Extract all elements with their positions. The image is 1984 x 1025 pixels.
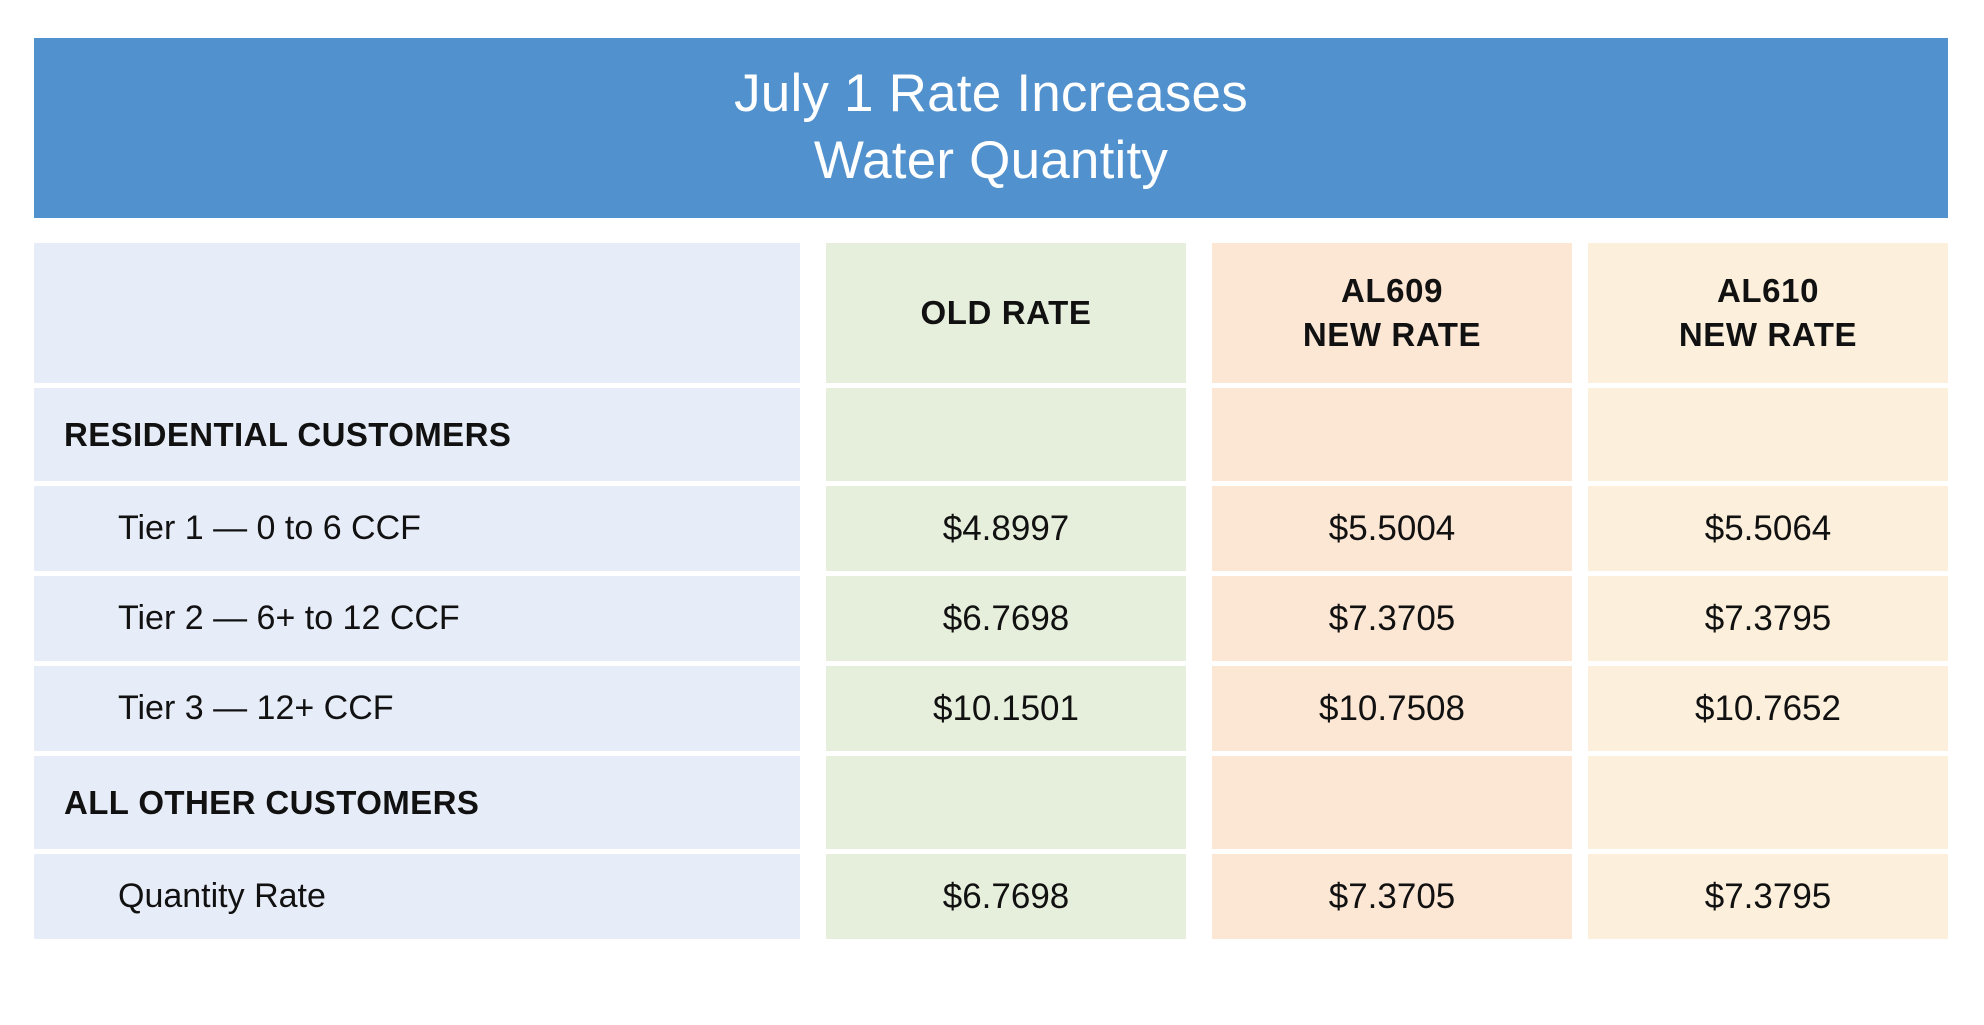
row-value-al610: $10.7652 (1588, 689, 1948, 729)
row-label: Tier 1 — 0 to 6 CCF (34, 509, 421, 548)
header-label-al610-line1: AL610 (1717, 272, 1819, 309)
row-cell-al609: $5.5004 (1212, 486, 1572, 571)
row-cell-al610: $7.3795 (1588, 576, 1948, 661)
row-label: Tier 2 — 6+ to 12 CCF (34, 599, 460, 638)
row-cell-old-rate: $6.7698 (826, 576, 1186, 661)
row-value-al609: $5.5004 (1212, 509, 1572, 549)
table-row: Tier 3 — 12+ CCF (34, 666, 800, 751)
column-gap-2 (1186, 576, 1212, 661)
column-gap-2 (1186, 666, 1212, 751)
row-cell-al609: $7.3705 (1212, 576, 1572, 661)
row-label: Tier 3 — 12+ CCF (34, 689, 394, 728)
column-gap-3 (1572, 243, 1588, 383)
header-label-al610: AL610 NEW RATE (1588, 269, 1948, 356)
table-row: Quantity Rate (34, 854, 800, 939)
group-label: ALL OTHER CUSTOMERS (34, 784, 479, 822)
header-label-old-rate: OLD RATE (826, 291, 1186, 335)
header-cell-al609: AL609 NEW RATE (1212, 243, 1572, 383)
row-cell-al610: $7.3795 (1588, 854, 1948, 939)
column-gap-2 (1186, 756, 1212, 849)
header-label-al609-line2: NEW RATE (1303, 316, 1481, 353)
group-header-row: RESIDENTIAL CUSTOMERS (34, 388, 800, 481)
row-value-old-rate: $4.8997 (826, 509, 1186, 549)
row-value-al610: $5.5064 (1588, 509, 1948, 549)
column-gap-2 (1186, 388, 1212, 481)
rate-increase-infographic: July 1 Rate Increases Water Quantity OLD… (0, 0, 1984, 1025)
row-cell-al610: $5.5064 (1588, 486, 1948, 571)
header-label-al609: AL609 NEW RATE (1212, 269, 1572, 356)
header-label-al610-line2: NEW RATE (1679, 316, 1857, 353)
row-value-al610: $7.3795 (1588, 877, 1948, 917)
rate-table: OLD RATE AL609 NEW RATE AL610 NEW RATE R… (34, 243, 1948, 944)
group-cell-al610 (1588, 756, 1948, 849)
row-value-al610: $7.3795 (1588, 599, 1948, 639)
row-value-al609: $7.3705 (1212, 877, 1572, 917)
column-gap-1 (800, 666, 826, 751)
row-cell-old-rate: $10.1501 (826, 666, 1186, 751)
title-line-1: July 1 Rate Increases (734, 61, 1248, 128)
table-row: Tier 1 — 0 to 6 CCF (34, 486, 800, 571)
table-row: Tier 2 — 6+ to 12 CCF (34, 576, 800, 661)
row-value-al609: $7.3705 (1212, 599, 1572, 639)
column-gap-1 (800, 243, 826, 383)
column-gap-3 (1572, 576, 1588, 661)
group-cell-al609 (1212, 388, 1572, 481)
row-value-al609: $10.7508 (1212, 689, 1572, 729)
column-gap-1 (800, 576, 826, 661)
header-cell-al610: AL610 NEW RATE (1588, 243, 1948, 383)
column-gap-1 (800, 486, 826, 571)
row-cell-al609: $10.7508 (1212, 666, 1572, 751)
row-cell-al609: $7.3705 (1212, 854, 1572, 939)
title-banner: July 1 Rate Increases Water Quantity (34, 38, 1948, 218)
group-label: RESIDENTIAL CUSTOMERS (34, 416, 511, 454)
row-cell-al610: $10.7652 (1588, 666, 1948, 751)
row-label: Quantity Rate (34, 877, 326, 916)
group-cell-al610 (1588, 388, 1948, 481)
column-gap-1 (800, 854, 826, 939)
group-cell-al609 (1212, 756, 1572, 849)
column-gap-3 (1572, 388, 1588, 481)
group-cell-old-rate (826, 388, 1186, 481)
column-gap-3 (1572, 486, 1588, 571)
group-cell-old-rate (826, 756, 1186, 849)
row-cell-old-rate: $6.7698 (826, 854, 1186, 939)
title-line-2: Water Quantity (814, 128, 1168, 195)
column-gap-2 (1186, 243, 1212, 383)
column-gap-2 (1186, 486, 1212, 571)
column-gap-3 (1572, 756, 1588, 849)
header-label-al609-line1: AL609 (1341, 272, 1443, 309)
header-cell-blank (34, 243, 800, 383)
header-cell-old-rate: OLD RATE (826, 243, 1186, 383)
column-gap-3 (1572, 854, 1588, 939)
row-value-old-rate: $6.7698 (826, 599, 1186, 639)
column-gap-2 (1186, 854, 1212, 939)
column-gap-3 (1572, 666, 1588, 751)
column-gap-1 (800, 388, 826, 481)
row-value-old-rate: $6.7698 (826, 877, 1186, 917)
row-value-old-rate: $10.1501 (826, 689, 1186, 729)
group-header-row: ALL OTHER CUSTOMERS (34, 756, 800, 849)
row-cell-old-rate: $4.8997 (826, 486, 1186, 571)
column-gap-1 (800, 756, 826, 849)
